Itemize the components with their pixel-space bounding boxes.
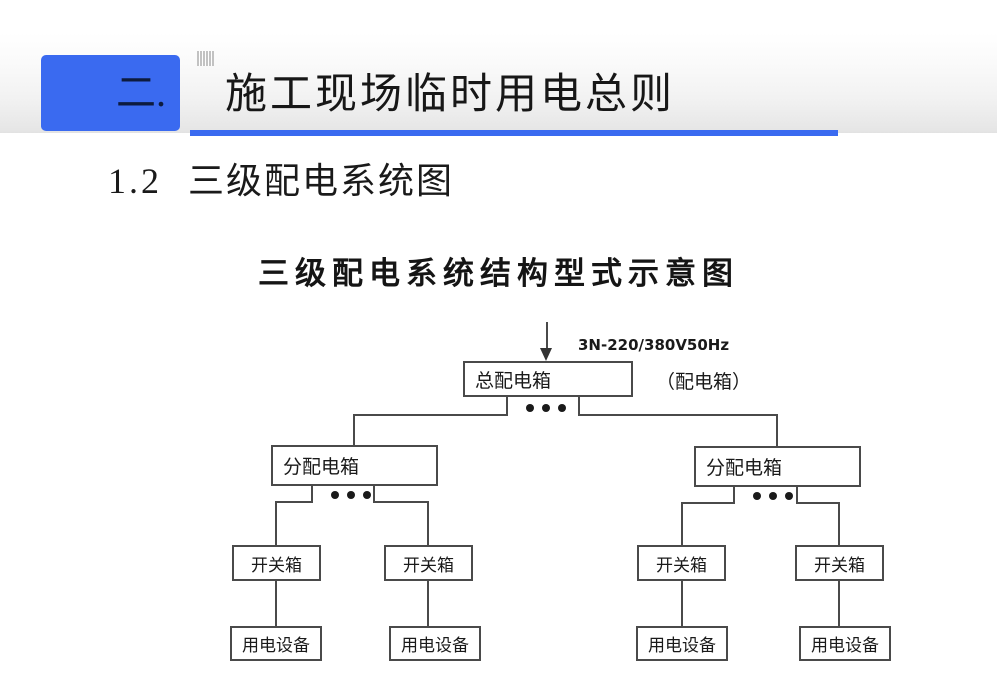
node-label: 分配电箱 — [706, 453, 782, 480]
dot — [785, 492, 793, 500]
sub-left-bus-2 — [373, 501, 429, 503]
node-device-1: 用电设备 — [230, 626, 322, 661]
branch-bus-left — [353, 414, 508, 416]
node-sub-distribution-box-left: 分配电箱 — [271, 445, 438, 486]
node-main-distribution-box: 总配电箱 — [463, 361, 633, 397]
ellipsis-dots-left — [331, 491, 371, 499]
branch-bus-right — [578, 414, 778, 416]
feeder-voltage-label: 3N-220/380V50Hz — [578, 336, 729, 354]
node-switch-box-4: 开关箱 — [795, 545, 884, 581]
node-label: 分配电箱 — [283, 452, 359, 479]
dot — [363, 491, 371, 499]
sub-right-stub-1 — [733, 486, 735, 503]
node-label: 用电设备 — [401, 631, 469, 656]
feeder-line — [546, 322, 548, 350]
arrow-down-icon — [540, 348, 552, 361]
dot — [331, 491, 339, 499]
diagram-title: 三级配电系统结构型式示意图 — [0, 248, 997, 293]
branch-drop-left — [353, 414, 355, 446]
node-switch-box-1: 开关箱 — [232, 545, 321, 581]
node-label: 用电设备 — [242, 631, 310, 656]
sub-left-drop-1 — [275, 501, 277, 546]
branch-drop-right — [776, 414, 778, 447]
node-label: 开关箱 — [656, 551, 707, 576]
node-device-3: 用电设备 — [636, 626, 728, 661]
sub-left-stub-1 — [311, 485, 313, 502]
node-label: 总配电箱 — [475, 366, 551, 393]
ellipsis-dots-right — [753, 492, 793, 500]
node-device-2: 用电设备 — [389, 626, 481, 661]
node-device-4: 用电设备 — [799, 626, 891, 661]
node-switch-box-2: 开关箱 — [384, 545, 473, 581]
node-label: 用电设备 — [811, 631, 879, 656]
sub-left-stub-2 — [373, 485, 375, 502]
node-sub-distribution-box-right: 分配电箱 — [694, 446, 861, 487]
device-link-2 — [427, 581, 429, 627]
dot — [347, 491, 355, 499]
dot — [558, 404, 566, 412]
branch-stub-right — [578, 397, 580, 415]
aside-note-label: （配电箱） — [656, 367, 751, 394]
ellipsis-dots-main — [526, 404, 566, 412]
node-label: 用电设备 — [648, 631, 716, 656]
node-label: 开关箱 — [403, 551, 454, 576]
dot — [526, 404, 534, 412]
dot — [753, 492, 761, 500]
node-switch-box-3: 开关箱 — [637, 545, 726, 581]
sub-right-bus-2 — [796, 502, 840, 504]
device-link-1 — [275, 581, 277, 627]
sub-left-drop-2 — [427, 501, 429, 546]
sub-right-drop-1 — [681, 502, 683, 546]
dot — [542, 404, 550, 412]
node-label: 开关箱 — [251, 551, 302, 576]
sub-right-stub-2 — [796, 486, 798, 503]
device-link-3 — [681, 581, 683, 627]
distribution-system-diagram: 三级配电系统结构型式示意图 3N-220/380V50Hz （配电箱） 总配电箱… — [0, 0, 997, 690]
node-label: 开关箱 — [814, 551, 865, 576]
sub-right-bus-1 — [681, 502, 735, 504]
sub-right-drop-2 — [838, 502, 840, 546]
device-link-4 — [838, 581, 840, 627]
branch-stub-left — [506, 397, 508, 415]
dot — [769, 492, 777, 500]
sub-left-bus-1 — [275, 501, 313, 503]
